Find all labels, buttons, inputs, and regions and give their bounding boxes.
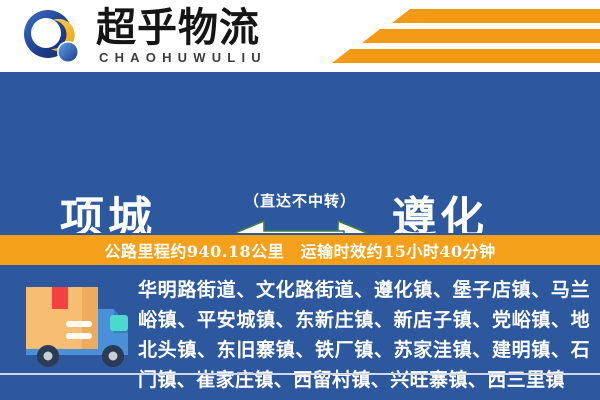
circle-crescent-logo-icon: [22, 8, 84, 66]
brand-name-cn: 超乎物流: [96, 6, 260, 50]
header-stripes-decoration: [300, 8, 600, 66]
route-info-bar: 公路里程约940.18公里 运输时效约15小时40分钟: [0, 233, 600, 267]
delivery-truck-icon: [18, 279, 134, 371]
route-section: 项城 （直达不中转） 【往返运输】 遵化: [0, 72, 600, 233]
stripe-3: [332, 49, 600, 63]
brand-name-en: CHAOHUWULIU: [99, 50, 267, 65]
route-info-text: 公路里程约940.18公里 运输时效约15小时40分钟: [104, 238, 495, 262]
stripe-2: [362, 29, 600, 43]
banner-header: 超乎物流 CHAOHUWULIU: [0, 0, 600, 72]
coverage-areas-text: 华明路街道、文化路街道、遵化镇、堡子店镇、马兰峪镇、平安城镇、东新庄镇、新店子镇…: [138, 275, 590, 395]
coverage-divider: [0, 373, 600, 375]
route-note-direct: （直达不中转）: [0, 190, 600, 211]
stripe-1: [392, 9, 600, 23]
logistics-route-banner: 超乎物流 CHAOHUWULIU 项城 （直达不中转） 【往返运输】 遵化 公路…: [0, 0, 600, 400]
coverage-section: 华明路街道、文化路街道、遵化镇、堡子店镇、马兰峪镇、平安城镇、东新庄镇、新店子镇…: [0, 267, 600, 400]
